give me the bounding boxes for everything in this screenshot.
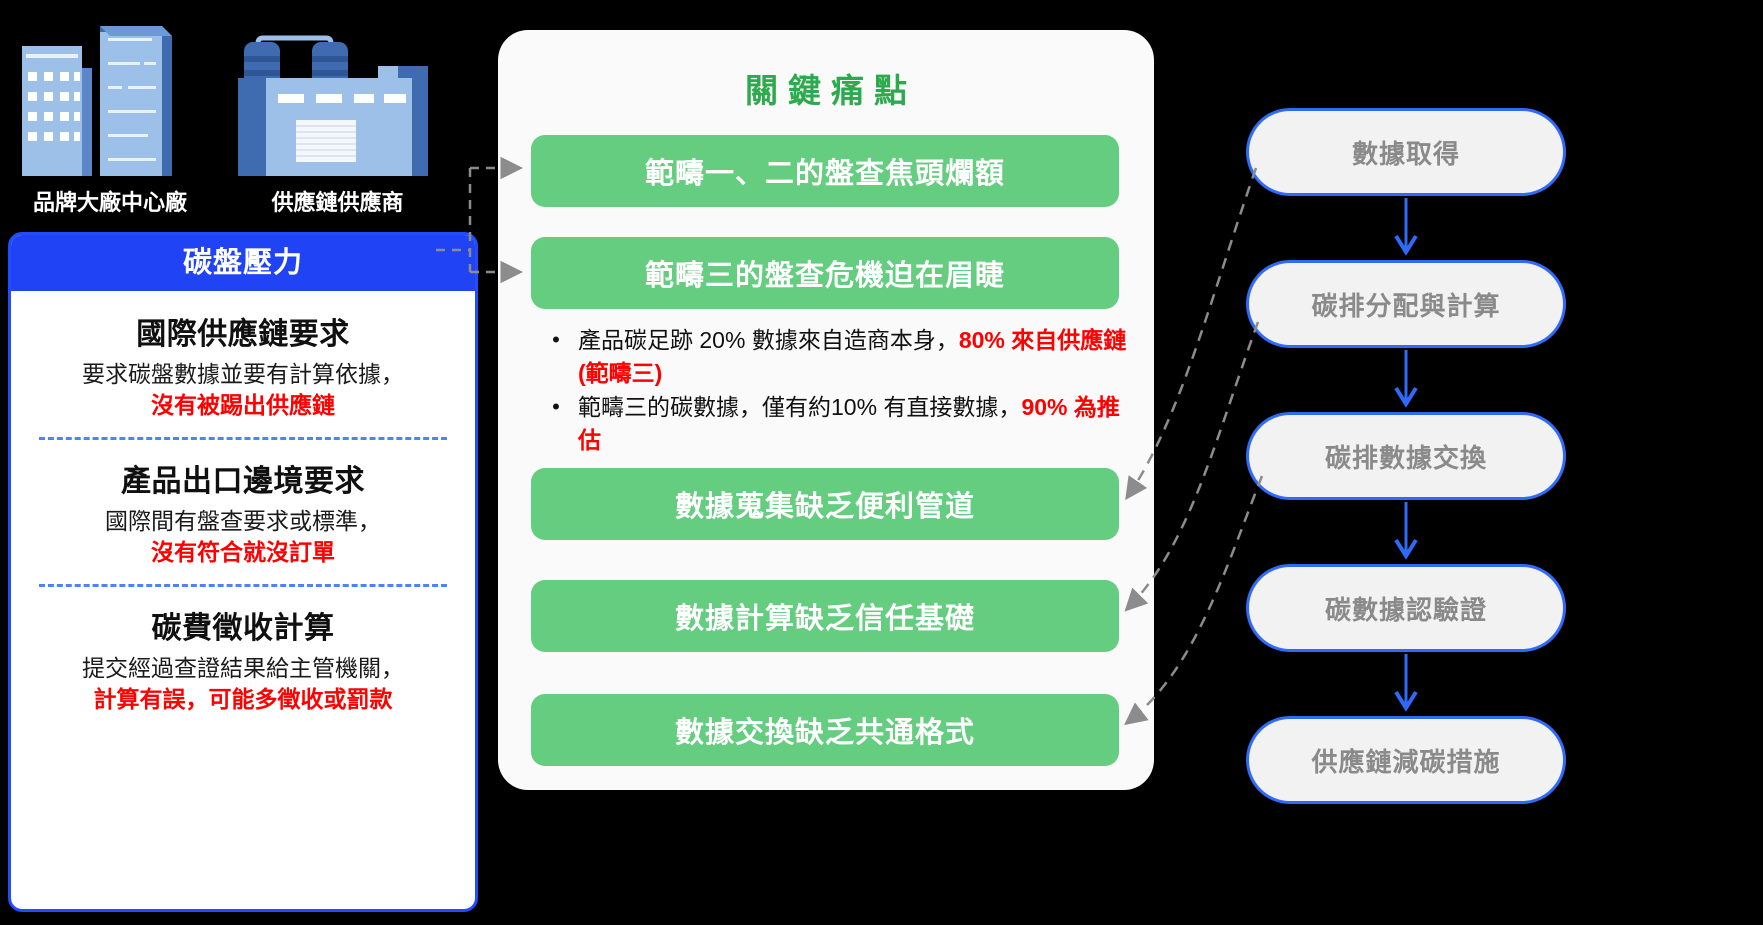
office-icon-caption: 品牌大廠中心廠 — [10, 185, 210, 217]
pressure-item-export-border: 產品出口邊境要求 國際間有盤查要求或標準， 沒有符合就沒訂單 — [29, 442, 457, 568]
factory-icon: 供應鏈供應商 — [230, 16, 445, 217]
carbon-pressure-body: 國際供應鏈要求 要求碳盤數據並要有計算依據， 沒有被踢出供應鏈 產品出口邊境要求… — [11, 291, 475, 715]
carbon-pressure-card: 碳盤壓力 國際供應鏈要求 要求碳盤數據並要有計算依據， 沒有被踢出供應鏈 產品出… — [8, 232, 478, 912]
flow-step-2[interactable]: 碳排分配與計算 — [1246, 260, 1566, 348]
pressure-desc-normal: 提交經過查證結果給主管機關， — [82, 655, 404, 681]
flow-arrow-3 — [1246, 500, 1566, 564]
flow-arrow-4 — [1246, 652, 1566, 716]
pressure-item-carbon-fee: 碳費徵收計算 提交經過查證結果給主管機關， 計算有誤，可能多徵收或罰款 — [29, 589, 457, 715]
flow-arrow-2 — [1246, 348, 1566, 412]
pressure-desc-normal: 國際間有盤查要求或標準， — [105, 508, 381, 534]
pain-point-1[interactable]: 範疇一、二的盤查焦頭爛額 — [531, 135, 1119, 207]
slide-canvas: 品牌大廠中心廠 — [0, 0, 1763, 925]
carbon-pressure-header: 碳盤壓力 — [11, 235, 475, 291]
divider — [39, 584, 447, 587]
pressure-item-supply-chain: 國際供應鏈要求 要求碳盤數據並要有計算依據， 沒有被踢出供應鏈 — [29, 295, 457, 421]
bullet-text: 範疇三的碳數據，僅有約10% 有直接數據，90% 為推估 — [578, 391, 1134, 456]
bullet-marker: • — [534, 324, 578, 389]
factory-icon-caption: 供應鏈供應商 — [230, 185, 445, 217]
flow-step-4[interactable]: 碳數據認驗證 — [1246, 564, 1566, 652]
pressure-title: 國際供應鏈要求 — [29, 309, 457, 353]
page-title: 關鍵痛點 — [498, 30, 1154, 112]
bullet-marker: • — [534, 391, 578, 456]
pressure-desc: 要求碳盤數據並要有計算依據， 沒有被踢出供應鏈 — [29, 359, 457, 421]
pressure-desc-highlight: 沒有符合就沒訂單 — [151, 539, 335, 565]
arrow-down-icon — [1393, 350, 1419, 410]
factory-glyph — [230, 16, 445, 176]
flow-step-1[interactable]: 數據取得 — [1246, 108, 1566, 196]
bullet-item: • 產品碳足跡 20% 數據來自造商本身，80% 來自供應鏈(範疇三) — [534, 324, 1134, 389]
pain-point-bullets: • 產品碳足跡 20% 數據來自造商本身，80% 來自供應鏈(範疇三) • 範疇… — [534, 324, 1134, 459]
divider — [39, 437, 447, 440]
arrow-down-icon — [1393, 502, 1419, 562]
pain-point-2[interactable]: 範疇三的盤查危機迫在眉睫 — [531, 237, 1119, 309]
arrow-down-icon — [1393, 198, 1419, 258]
carbon-flow-steps: 數據取得 碳排分配與計算 碳排數據交換 碳數據認驗證 — [1246, 108, 1566, 804]
bullet-text: 產品碳足跡 20% 數據來自造商本身，80% 來自供應鏈(範疇三) — [578, 324, 1134, 389]
flow-arrow-1 — [1246, 196, 1566, 260]
arrow-down-icon — [1393, 654, 1419, 714]
key-pain-points-card: 關鍵痛點 範疇一、二的盤查焦頭爛額 範疇三的盤查危機迫在眉睫 • 產品碳足跡 2… — [498, 30, 1154, 790]
pressure-desc-highlight: 沒有被踢出供應鏈 — [151, 392, 335, 418]
pressure-desc: 提交經過查證結果給主管機關， 計算有誤，可能多徵收或罰款 — [29, 653, 457, 715]
pressure-desc: 國際間有盤查要求或標準， 沒有符合就沒訂單 — [29, 506, 457, 568]
bullet-item: • 範疇三的碳數據，僅有約10% 有直接數據，90% 為推估 — [534, 391, 1134, 456]
pain-point-3[interactable]: 數據蒐集缺乏便利管道 — [531, 468, 1119, 540]
office-buildings-icon: 品牌大廠中心廠 — [10, 16, 210, 217]
flow-step-3[interactable]: 碳排數據交換 — [1246, 412, 1566, 500]
bullet-text-normal: 產品碳足跡 20% 數據來自造商本身， — [578, 327, 959, 353]
pressure-title: 碳費徵收計算 — [29, 603, 457, 647]
office-buildings-glyph — [10, 16, 210, 176]
pressure-title: 產品出口邊境要求 — [29, 456, 457, 500]
pressure-desc-highlight: 計算有誤，可能多徵收或罰款 — [94, 686, 393, 712]
pressure-desc-normal: 要求碳盤數據並要有計算依據， — [82, 361, 404, 387]
bullet-text-normal: 範疇三的碳數據，僅有約10% 有直接數據， — [578, 394, 1021, 420]
supply-chain-icons: 品牌大廠中心廠 — [0, 16, 470, 206]
pain-point-5[interactable]: 數據交換缺乏共通格式 — [531, 694, 1119, 766]
pain-point-4[interactable]: 數據計算缺乏信任基礎 — [531, 580, 1119, 652]
flow-step-5[interactable]: 供應鏈減碳措施 — [1246, 716, 1566, 804]
